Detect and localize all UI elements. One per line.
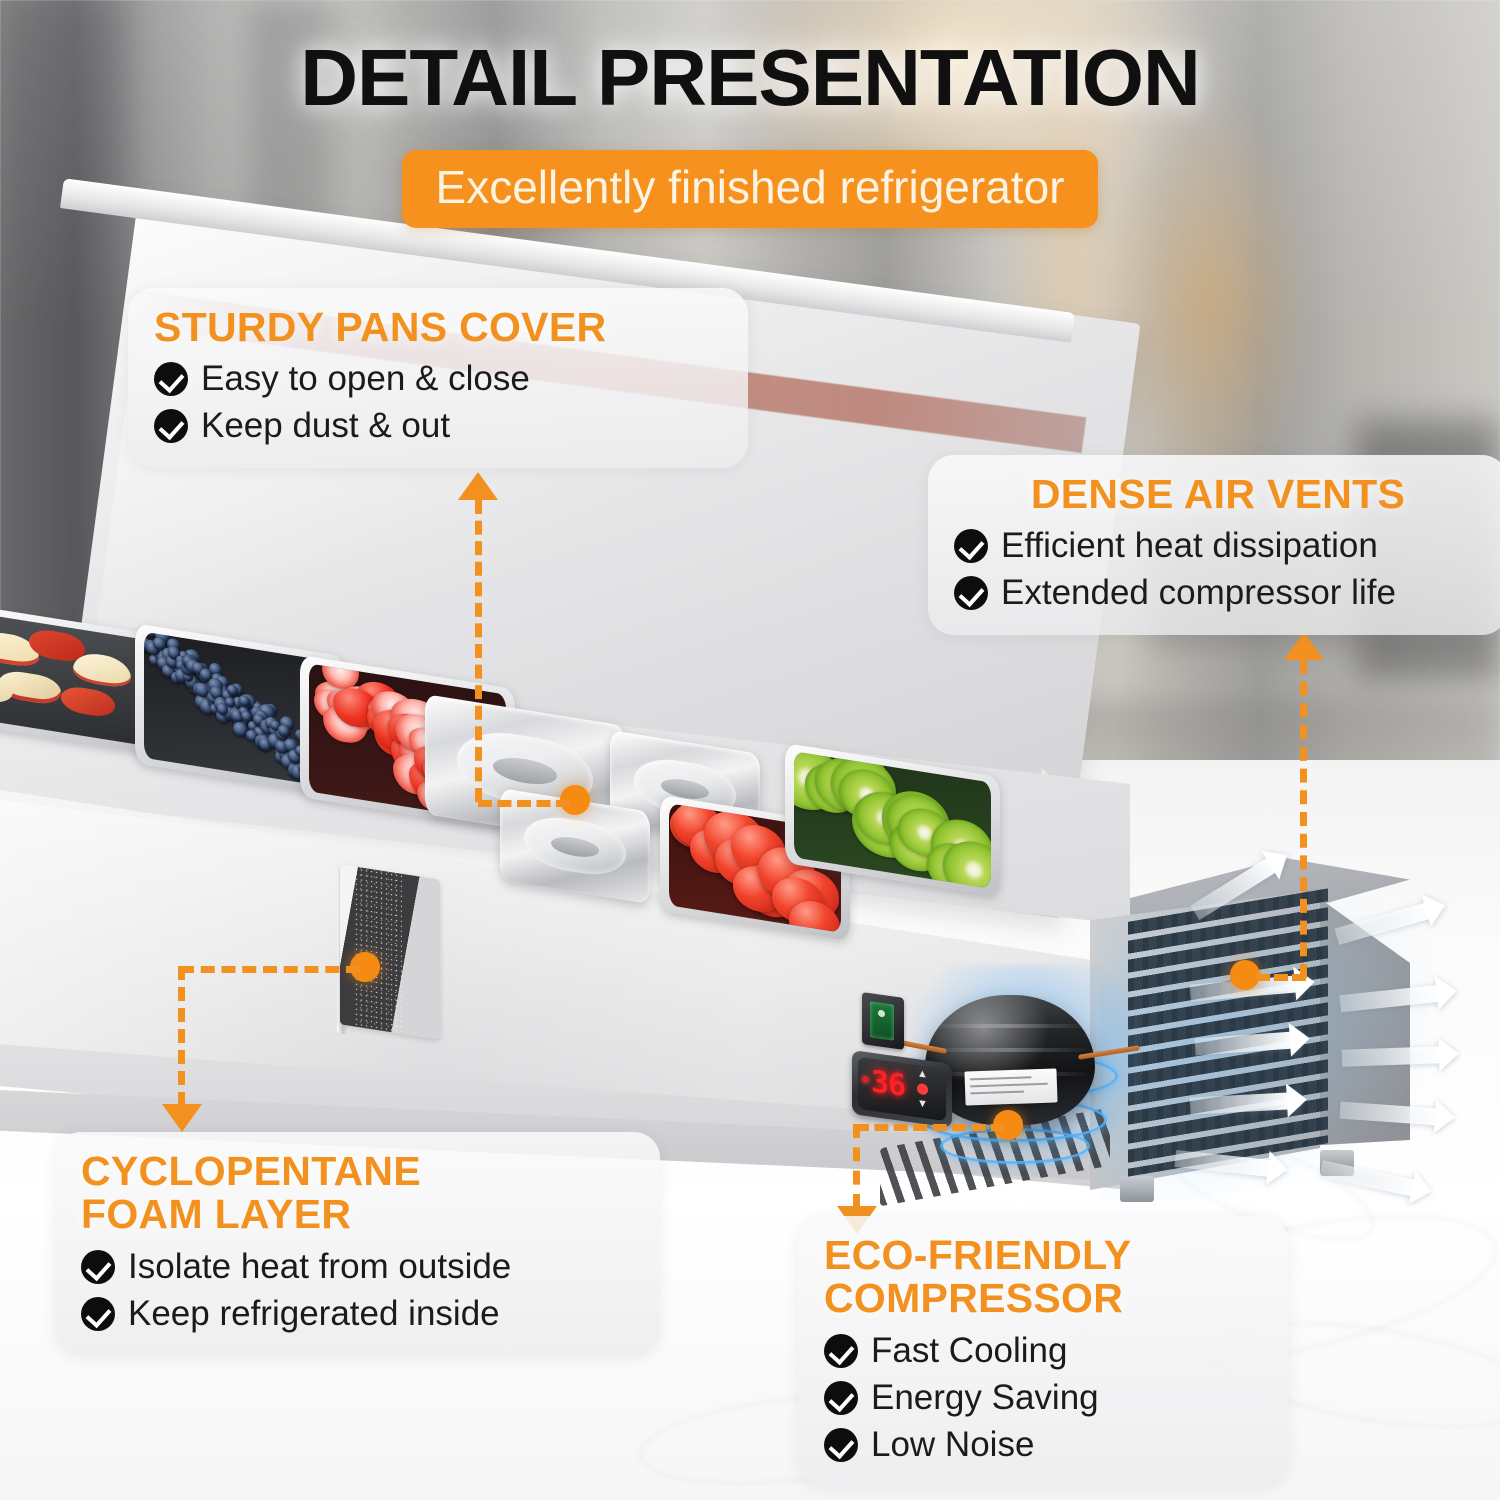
temperature-display: 36 xyxy=(871,1066,911,1104)
callout-sturdy-pans-cover: STURDY PANS COVER Easy to open & close K… xyxy=(128,288,748,468)
callout-dense-air-vents: DENSE AIR VENTS Efficient heat dissipati… xyxy=(928,455,1500,635)
callout-heading-line2: FOAM LAYER xyxy=(81,1193,634,1236)
compressor-connector-h xyxy=(855,1124,1005,1131)
thermostat-power-led-icon xyxy=(862,1076,869,1084)
callout-heading-line1: ECO-FRIENDLY xyxy=(824,1234,1262,1277)
page-title: DETAIL PRESENTATION xyxy=(0,32,1500,124)
check-icon xyxy=(154,409,188,443)
apple-slice xyxy=(73,650,131,689)
airflow-arrow xyxy=(1342,1046,1443,1066)
callout-cyclopentane-foam-layer: CYCLOPENTANE FOAM LAYER Isolate heat fro… xyxy=(55,1132,660,1356)
infographic-scene: 36 ▲ ⬤ ▼ DETAIL PRESENTATION Excellently… xyxy=(0,0,1500,1500)
bullet-item: Easy to open & close xyxy=(154,359,722,399)
cyclopentane-foam-cutaway xyxy=(340,864,440,1039)
bullet-item: Keep dust & out xyxy=(154,406,722,446)
foam-texture xyxy=(354,866,402,1033)
pans-cover-connector-v xyxy=(475,500,482,802)
bullet-text: Keep dust & out xyxy=(201,406,450,446)
thermostat-set-icon[interactable]: ⬤ xyxy=(916,1082,929,1097)
bullet-text: Fast Cooling xyxy=(871,1331,1067,1371)
callout-heading: DENSE AIR VENTS xyxy=(954,473,1482,516)
bullet-text: Keep refrigerated inside xyxy=(128,1294,500,1334)
bullet-text: Low Noise xyxy=(871,1425,1034,1465)
check-icon xyxy=(154,362,188,396)
bullet-item: Extended compressor life xyxy=(954,573,1482,613)
label-line xyxy=(970,1076,1032,1080)
pans-cover-connector-h xyxy=(478,800,570,807)
bullet-item: Keep refrigerated inside xyxy=(81,1294,634,1334)
bullet-text: Energy Saving xyxy=(871,1378,1099,1418)
foam-layer-arrow-icon xyxy=(162,1104,202,1132)
callout-heading-line2: COMPRESSOR xyxy=(824,1277,1262,1320)
check-icon xyxy=(824,1428,858,1462)
check-icon xyxy=(824,1334,858,1368)
check-icon xyxy=(954,529,988,563)
blueberry xyxy=(278,724,289,737)
bullet-text: Efficient heat dissipation xyxy=(1001,526,1378,566)
air-vents-connector-v xyxy=(1300,660,1307,978)
compressor-spec-label xyxy=(964,1068,1057,1105)
power-switch[interactable] xyxy=(870,1001,894,1040)
callout-eco-friendly-compressor: ECO-FRIENDLY COMPRESSOR Fast Cooling Ene… xyxy=(798,1216,1288,1487)
thermostat-up-icon[interactable]: ▲ xyxy=(916,1067,929,1082)
air-vents-arrow-icon xyxy=(1284,632,1324,660)
foam-layer-connector-h xyxy=(180,966,360,973)
check-icon xyxy=(81,1250,115,1284)
foam-layer-connector-v xyxy=(178,966,185,1106)
bullet-text: Extended compressor life xyxy=(1001,573,1396,613)
air-vents-connector-h xyxy=(1256,974,1306,981)
callout-heading-line1: CYCLOPENTANE xyxy=(81,1150,634,1193)
kiwi-slices-pan-well xyxy=(794,751,991,888)
bullet-item: Energy Saving xyxy=(824,1378,1262,1418)
check-icon xyxy=(81,1297,115,1331)
compressor-highlight-band xyxy=(928,1048,1092,1052)
check-icon xyxy=(954,576,988,610)
bullet-item: Efficient heat dissipation xyxy=(954,526,1482,566)
bullet-item: Isolate heat from outside xyxy=(81,1247,634,1287)
callout-heading: STURDY PANS COVER xyxy=(154,306,722,349)
compressor-connector-v xyxy=(853,1124,860,1208)
check-icon xyxy=(824,1381,858,1415)
bullet-item: Low Noise xyxy=(824,1425,1262,1465)
label-line xyxy=(970,1083,1048,1088)
bullet-item: Fast Cooling xyxy=(824,1331,1262,1371)
thermostat-down-icon[interactable]: ▼ xyxy=(916,1097,929,1112)
bullet-text: Isolate heat from outside xyxy=(128,1247,511,1287)
apple-slice xyxy=(61,684,115,719)
power-indicator-icon xyxy=(878,1010,885,1018)
subtitle-wrap: Excellently finished refrigerator xyxy=(0,150,1500,228)
page-subtitle: Excellently finished refrigerator xyxy=(402,150,1099,228)
label-line xyxy=(970,1091,1024,1095)
bullet-text: Easy to open & close xyxy=(201,359,530,399)
compressor-highlight-band xyxy=(928,1024,1092,1028)
pans-cover-arrow-icon xyxy=(458,472,498,500)
